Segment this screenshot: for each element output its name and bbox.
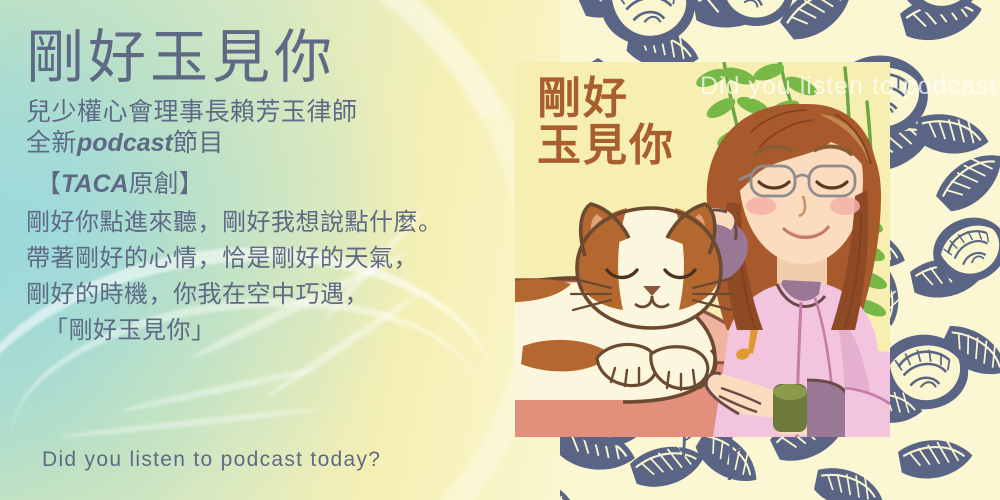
taca-brand: TACA [61,170,129,198]
cover-title-line-1: 剛好 [537,74,629,123]
body-line-3: 剛好的時機，你我在空中巧遇， [26,277,526,313]
cover-art-title: 剛好玉見你 [537,76,675,169]
poster-canvas: 剛好玉見你 兒少權心會理事長賴芳玉律師 全新podcast節目 【TACA原創】… [0,0,1000,500]
taca-bracket-open: 【 [36,170,61,198]
body-line-1: 剛好你點進來聽，剛好我想說點什麼。 [26,205,526,241]
body-line-4: 「剛好玉見你」 [44,313,526,349]
taca-credit-line: 【TACA原創】 [36,166,526,204]
subtitle-prefix: 全新 [26,129,77,157]
page-title: 剛好玉見你 [26,26,526,91]
english-tagline: Did you listen to podcast today? [42,448,381,472]
subtitle-line-1: 兒少權心會理事長賴芳玉律師 [26,97,526,129]
subtitle-podcast-emphasis: podcast [77,129,173,157]
cover-title-line-2: 玉見你 [537,121,675,170]
body-line-2: 帶著剛好的心情，恰是剛好的天氣， [26,241,526,277]
podcast-cover-art: 剛好玉見你 [515,62,890,437]
subtitle-line-2: 全新podcast節目 [26,128,526,160]
taca-rest: 原創】 [129,170,204,198]
left-text-column: 剛好玉見你 兒少權心會理事長賴芳玉律師 全新podcast節目 【TACA原創】… [26,26,526,349]
subtitle-suffix: 節目 [173,129,224,157]
